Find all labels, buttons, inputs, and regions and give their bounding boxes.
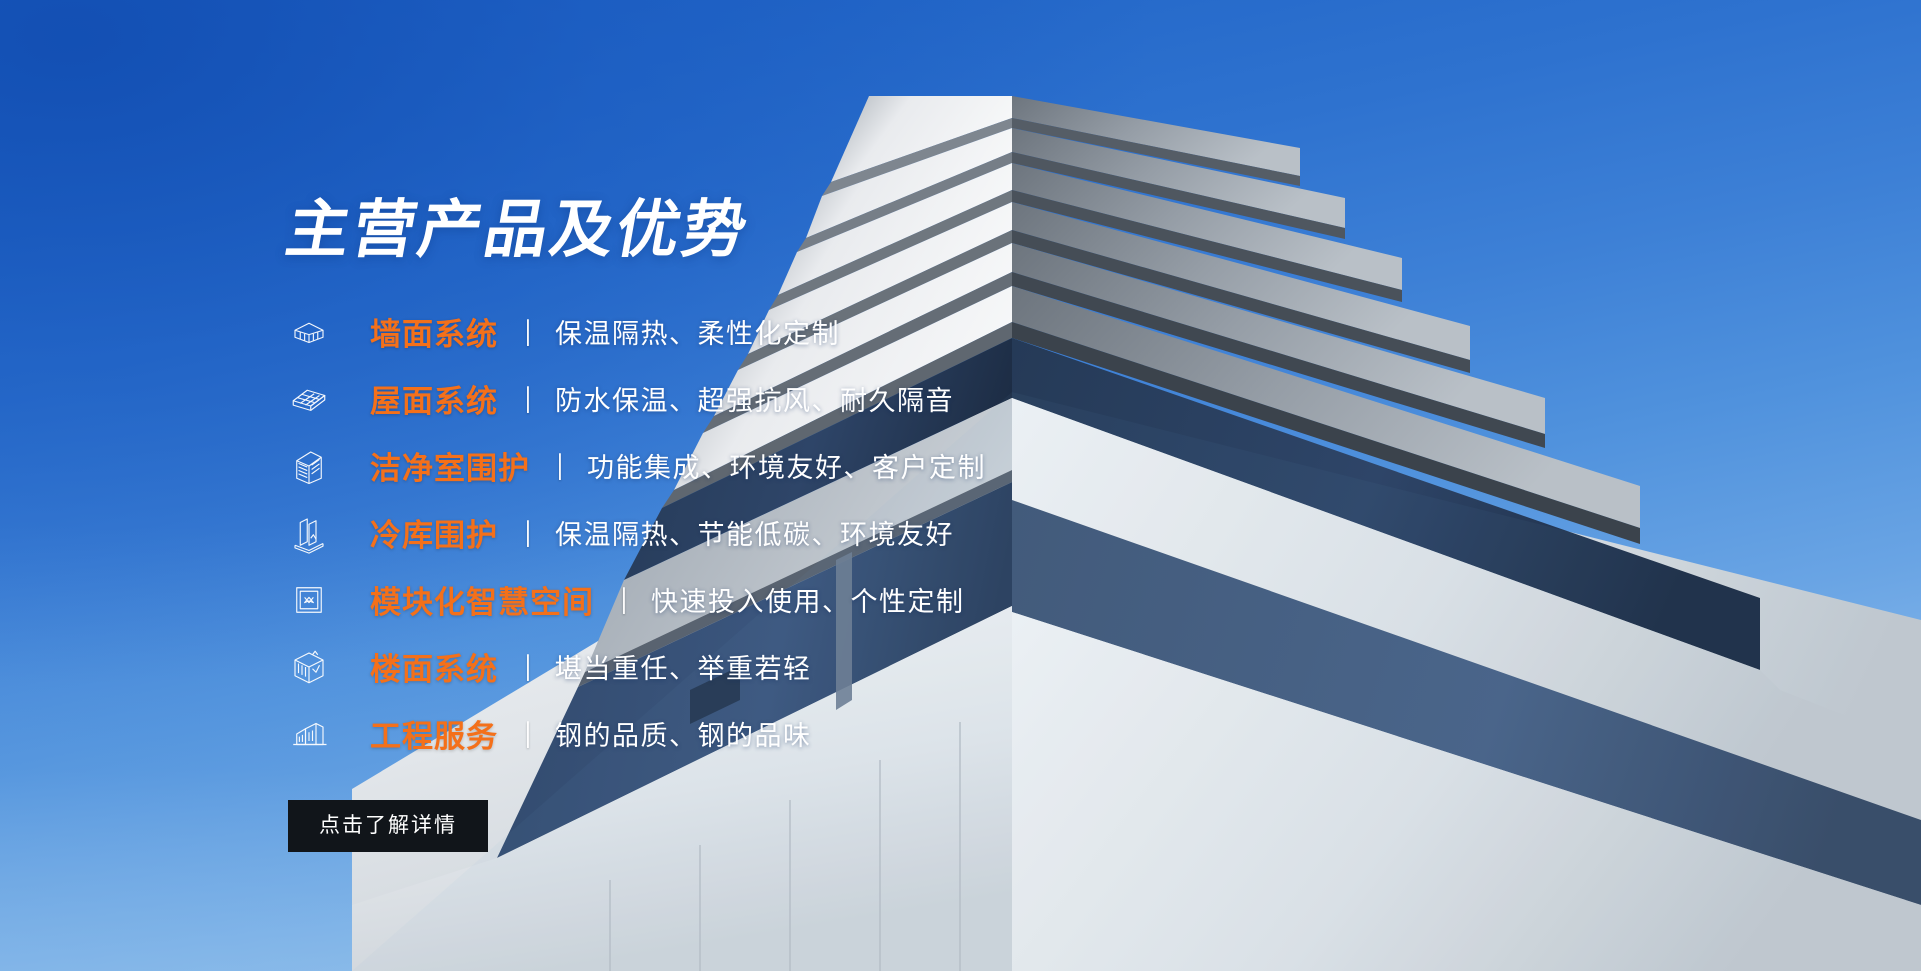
feature-title: 屋面系统	[370, 376, 498, 421]
feature-row[interactable]: 墙面系统 丨 保温隔热、柔性化定制	[286, 298, 1246, 365]
feature-separator: 丨	[616, 580, 631, 620]
feature-separator: 丨	[520, 513, 535, 553]
cold-storage-enclosure-icon	[286, 510, 332, 556]
feature-separator: 丨	[520, 647, 535, 687]
engineering-service-icon	[286, 711, 332, 757]
feature-separator: 丨	[520, 714, 535, 754]
roof-system-icon	[286, 376, 332, 422]
feature-row[interactable]: 屋面系统 丨 防水保温、超强抗风、耐久隔音	[286, 365, 1246, 432]
feature-title: 模块化智慧空间	[370, 577, 594, 622]
cleanroom-enclosure-icon	[286, 443, 332, 489]
feature-title: 墙面系统	[370, 309, 498, 354]
feature-row[interactable]: 洁净室围护 丨 功能集成、环境友好、客户定制	[286, 432, 1246, 499]
feature-description: 快速投入使用、个性定制	[651, 580, 965, 619]
feature-title: 楼面系统	[370, 644, 498, 689]
feature-list: 墙面系统 丨 保温隔热、柔性化定制 屋面系统 丨 防水保温、超强抗风、耐久隔音	[286, 298, 1246, 767]
feature-title: 冷库围护	[370, 510, 498, 555]
feature-description: 防水保温、超强抗风、耐久隔音	[555, 379, 954, 418]
feature-title: 工程服务	[370, 711, 498, 756]
wall-system-icon	[286, 309, 332, 355]
feature-title: 洁净室围护	[370, 443, 530, 488]
feature-description: 堪当重任、举重若轻	[555, 647, 812, 686]
feature-description: 保温隔热、节能低碳、环境友好	[555, 513, 954, 552]
feature-separator: 丨	[520, 379, 535, 419]
feature-description: 保温隔热、柔性化定制	[555, 312, 840, 351]
cta-container: 点击了解详情	[288, 800, 488, 852]
banner-content: 主营产品及优势 墙面系统 丨 保温隔热、柔性化定制	[0, 0, 1921, 971]
feature-row[interactable]: 冷库围护 丨 保温隔热、节能低碳、环境友好	[286, 499, 1246, 566]
modular-smart-space-icon	[286, 577, 332, 623]
feature-description: 钢的品质、钢的品味	[555, 714, 812, 753]
banner-stage: 主营产品及优势 墙面系统 丨 保温隔热、柔性化定制	[0, 0, 1921, 971]
feature-description: 功能集成、环境友好、客户定制	[587, 446, 986, 485]
feature-row[interactable]: 楼面系统 丨 堪当重任、举重若轻	[286, 633, 1246, 700]
feature-separator: 丨	[520, 312, 535, 352]
page-title: 主营产品及优势	[281, 198, 754, 261]
learn-more-button[interactable]: 点击了解详情	[288, 800, 488, 852]
feature-row[interactable]: 工程服务 丨 钢的品质、钢的品味	[286, 700, 1246, 767]
feature-separator: 丨	[552, 446, 567, 486]
feature-row[interactable]: 模块化智慧空间 丨 快速投入使用、个性定制	[286, 566, 1246, 633]
floor-system-icon	[286, 644, 332, 690]
